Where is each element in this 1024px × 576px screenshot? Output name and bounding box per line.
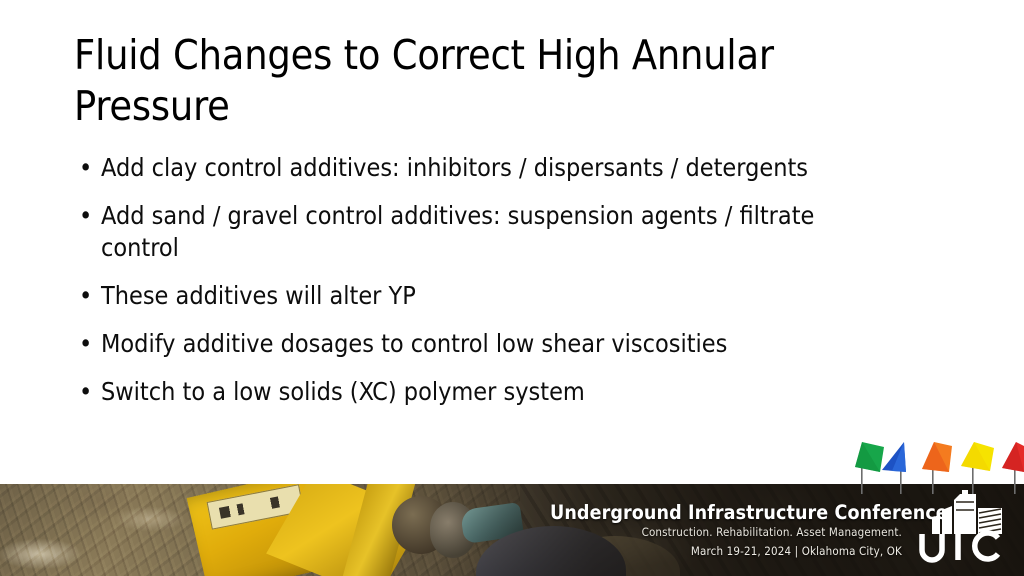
list-item: • Add sand / gravel control additives: s…	[74, 200, 884, 264]
footer-banner: Underground Infrastructure Conference Co…	[0, 484, 1024, 576]
conference-name: Underground Infrastructure Conference	[550, 501, 902, 524]
bullet-marker: •	[79, 200, 92, 232]
list-item: • Modify additive dosages to control low…	[74, 328, 884, 360]
flag-yellow	[961, 442, 994, 494]
list-item-text: These additives will alter YP	[101, 281, 416, 310]
bullet-marker: •	[79, 152, 92, 184]
bullet-list: • Add clay control additives: inhibitors…	[74, 152, 884, 424]
presentation-slide: Fluid Changes to Correct High Annular Pr…	[0, 0, 1024, 576]
list-item-text: Add sand / gravel control additives: sus…	[101, 201, 814, 262]
list-item-text: Switch to a low solids (XC) polymer syst…	[101, 377, 585, 406]
flag-red	[1002, 442, 1024, 494]
list-item: • Add clay control additives: inhibitors…	[74, 152, 884, 184]
list-item-text: Add clay control additives: inhibitors /…	[101, 153, 808, 182]
flag-blue	[882, 442, 906, 494]
page-title: Fluid Changes to Correct High Annular Pr…	[74, 30, 864, 133]
flag-orange	[922, 442, 952, 494]
conference-date-location: March 19-21, 2024 | Oklahoma City, OK	[550, 544, 902, 558]
uic-logo: UIC	[906, 488, 1018, 572]
flag-green	[855, 442, 884, 494]
survey-flags-graphic	[848, 440, 1024, 496]
list-item: • These additives will alter YP	[74, 280, 884, 312]
conference-branding: Underground Infrastructure Conference Co…	[550, 484, 902, 576]
conference-tagline: Construction. Rehabilitation. Asset Mana…	[550, 525, 902, 539]
bullet-marker: •	[79, 328, 92, 360]
bullet-marker: •	[79, 280, 92, 312]
list-item-text: Modify additive dosages to control low s…	[101, 329, 727, 358]
bullet-marker: •	[79, 376, 92, 408]
list-item: • Switch to a low solids (XC) polymer sy…	[74, 376, 884, 408]
